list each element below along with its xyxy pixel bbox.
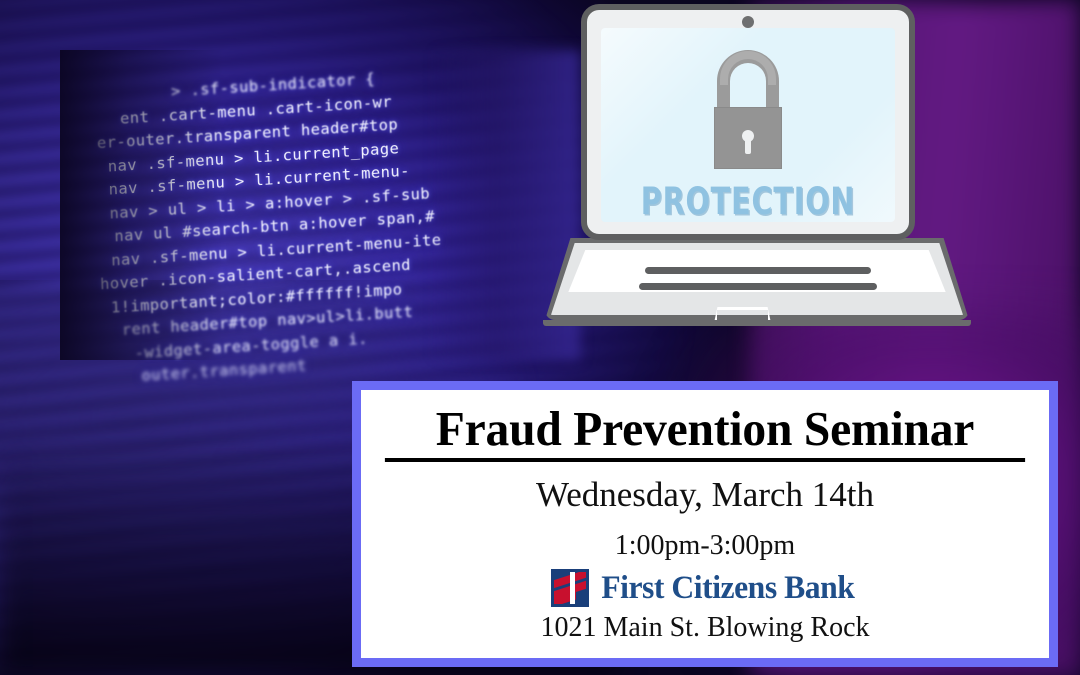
background-code-text: > .sf-sub-indicator { ent .cart-menu .ca… [91,59,531,391]
event-date: Wednesday, March 14th [375,464,1035,526]
event-time: 1:00pm-3:00pm [375,526,1035,566]
first-citizens-bank-logo: First Citizens Bank [375,567,1035,609]
laptop-base-foot [543,320,971,326]
webcam-icon [742,16,754,28]
event-info-card: Fraud Prevention Seminar Wednesday, Marc… [352,381,1058,667]
padlock-icon [700,50,796,170]
padlock-body [714,107,782,169]
keyboard-bar [645,267,871,274]
laptop-lid: PROTECTION [581,4,915,240]
laptop-screen: PROTECTION [601,28,895,222]
padlock-keyhole-slot [745,138,751,154]
laptop-illustration: PROTECTION [545,2,969,332]
first-citizens-bank-wordmark: First Citizens Bank [601,570,854,606]
page-title: Fraud Prevention Seminar [385,401,1025,462]
fraud-prevention-seminar-poster: > .sf-sub-indicator { ent .cart-menu .ca… [0,0,1080,675]
event-address: 1021 Main St. Blowing Rock [375,609,1035,647]
logo-mark-inner [554,572,586,604]
screen-protection-label: PROTECTION [622,180,875,222]
first-citizens-bank-mark-icon [551,569,589,607]
keyboard-bar [639,283,877,290]
logo-divider [570,572,575,604]
event-info-card-inner: Fraud Prevention Seminar Wednesday, Marc… [361,390,1049,658]
